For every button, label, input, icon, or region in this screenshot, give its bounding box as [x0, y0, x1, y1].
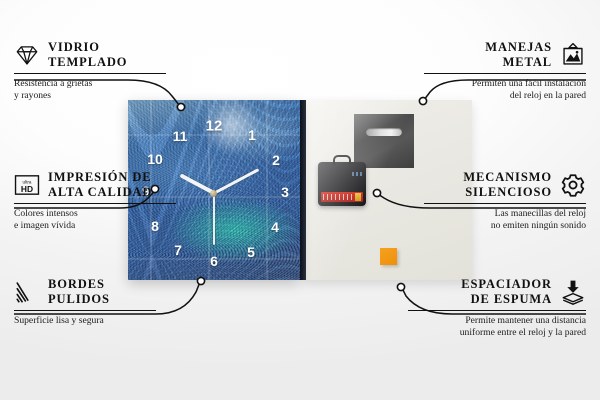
hour-number-6: 6	[210, 254, 218, 268]
hour-number-2: 2	[272, 153, 280, 167]
feature-header: MANEJAS METAL	[424, 40, 586, 70]
feature-subtitle: Superficie lisa y segura	[14, 315, 160, 327]
metal-hanger-plate	[354, 114, 414, 168]
feature-title: MANEJAS METAL	[485, 40, 552, 70]
feature-manejas-metal[interactable]: MANEJAS METAL Permiten una fácil instala…	[424, 40, 586, 103]
feature-header: BORDES PULIDOS	[14, 277, 160, 307]
feature-divider	[14, 310, 156, 311]
feature-title: ESPACIADOR DE ESPUMA	[461, 277, 552, 307]
feature-title: VIDRIO TEMPLADO	[48, 40, 127, 70]
ultra-hd-icon: ultra HD	[14, 172, 40, 198]
feature-divider	[408, 310, 586, 311]
hour-number-3: 3	[281, 185, 289, 199]
marker-espaciador	[397, 283, 404, 290]
gear-icon	[560, 172, 586, 198]
hour-number-1: 1	[248, 128, 256, 142]
foam-spacer	[380, 248, 397, 265]
feature-header: ultra HD IMPRESIÓN DE ALTA CALIDAD	[14, 170, 180, 200]
feature-subtitle: Resistencia a grietas y rayones	[14, 78, 170, 103]
battery-ticks	[323, 194, 353, 200]
feature-mecanismo-silencioso[interactable]: MECANISMO SILENCIOSO Las manecillas del …	[424, 170, 586, 233]
feature-subtitle: Permite mantener una distancia uniforme …	[408, 315, 586, 340]
clock-mechanism	[318, 162, 366, 206]
hour-number-4: 4	[271, 220, 279, 234]
mechanism-hook	[333, 155, 351, 165]
feature-divider	[14, 73, 166, 74]
battery	[321, 192, 363, 202]
hour-number-7: 7	[174, 243, 182, 257]
hour-number-12: 12	[206, 119, 223, 134]
feature-vidrio-templado[interactable]: VIDRIO TEMPLADO Resistencia a grietas y …	[14, 40, 170, 103]
feature-subtitle: Permiten una fácil instalación del reloj…	[424, 78, 586, 103]
hour-number-11: 11	[173, 129, 188, 143]
feature-bordes-pulidos[interactable]: BORDES PULIDOS Superficie lisa y segura	[14, 277, 160, 327]
feature-header: ESPACIADOR DE ESPUMA	[408, 277, 586, 307]
feature-header: MECANISMO SILENCIOSO	[424, 170, 586, 200]
mechanism-detail	[352, 172, 362, 176]
feature-title: MECANISMO SILENCIOSO	[463, 170, 552, 200]
foam-spacer-icon	[560, 279, 586, 305]
feature-divider	[424, 73, 586, 74]
feature-title: BORDES PULIDOS	[48, 277, 110, 307]
hour-number-10: 10	[147, 152, 163, 166]
infographic-canvas: 12 1 2 3 4 5 6 7 8 9 10 11	[0, 0, 600, 400]
diamond-icon	[14, 42, 40, 68]
feature-subtitle: Las manecillas del reloj no emiten ningú…	[424, 208, 586, 233]
polished-edges-icon	[14, 279, 40, 305]
hour-number-5: 5	[247, 245, 255, 259]
center-pin	[210, 190, 217, 197]
feature-title: IMPRESIÓN DE ALTA CALIDAD	[48, 170, 152, 200]
svg-text:HD: HD	[21, 184, 33, 194]
feature-subtitle: Colores intensos e imagen vívida	[14, 208, 180, 233]
feature-divider	[14, 203, 176, 204]
feature-header: VIDRIO TEMPLADO	[14, 40, 170, 70]
feature-divider	[424, 203, 586, 204]
hanger-slot	[366, 128, 402, 136]
picture-frame-icon	[560, 42, 586, 68]
second-hand	[213, 193, 215, 245]
feature-espaciador-espuma[interactable]: ESPACIADOR DE ESPUMA Permite mantener un…	[408, 277, 586, 340]
feature-impresion-alta-calidad[interactable]: ultra HD IMPRESIÓN DE ALTA CALIDAD Color…	[14, 170, 180, 233]
